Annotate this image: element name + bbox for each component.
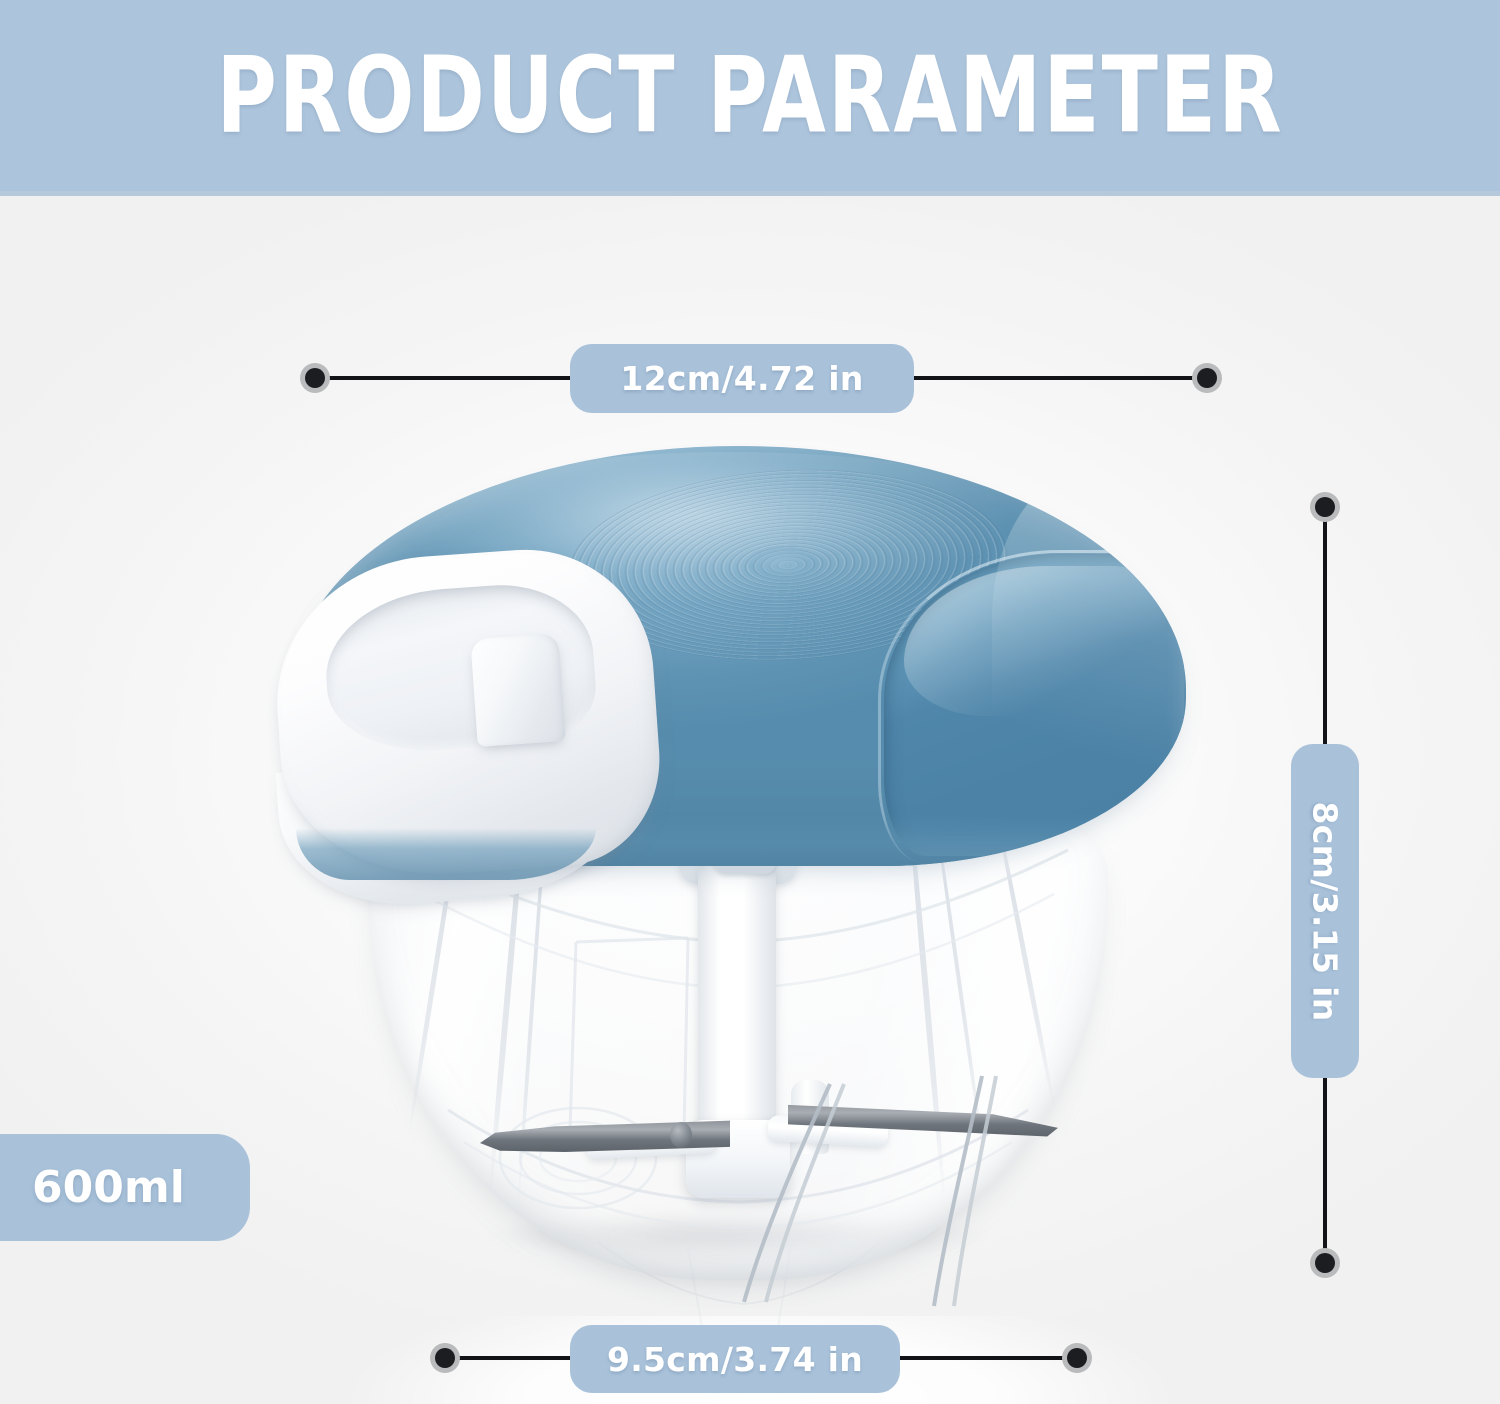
lid-left-seam [296,828,596,880]
page-title: PRODUCT PARAMETER [30,0,1470,212]
lid-ring-center [747,546,819,580]
dimension-badge-height: 8cm/3.15 in [1291,744,1359,1078]
dimension-endpoint-right-top [1310,492,1340,522]
dimension-endpoint-bottom-left [430,1343,460,1373]
dimension-badge-base: 9.5cm/3.74 in [570,1325,900,1393]
volume-badge: 600ml [0,1134,250,1241]
lid-outer-sheen [992,466,1186,846]
dimension-endpoint-top-right [1192,363,1222,393]
product-parameter-infographic: PRODUCT PARAMETER [0,0,1500,1404]
dimension-endpoint-top-left [300,363,330,393]
product-image [268,430,1228,1330]
dimension-badge-width: 12cm/4.72 in [570,344,914,413]
dimension-badge-height-label: 8cm/3.15 in [1306,801,1345,1021]
dimension-endpoint-right-bottom [1310,1248,1340,1278]
whisk-wires [448,1070,1068,1320]
pull-handle-knob [470,633,565,747]
dimension-endpoint-bottom-right [1062,1343,1092,1373]
